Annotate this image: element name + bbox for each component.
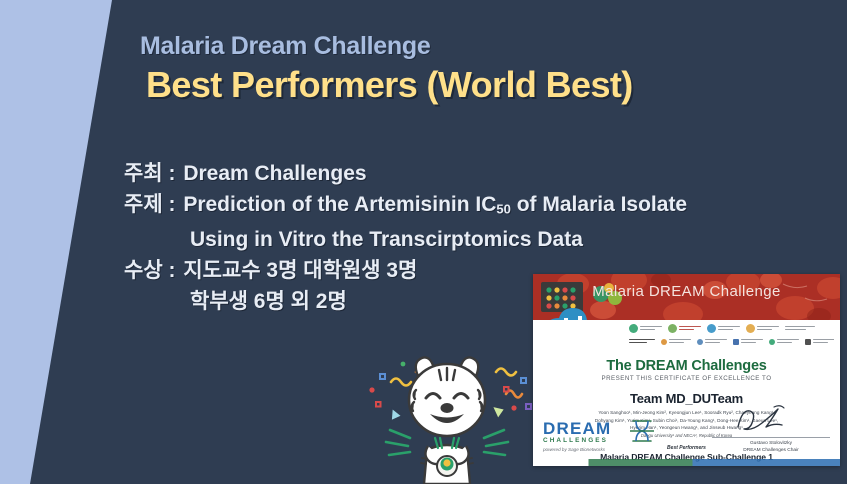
powered-by-label: powered by Sage Bionetworks	[543, 447, 611, 452]
sponsor-logo	[661, 339, 691, 345]
info-row-topic-cont: Using in Vitro the Transcirptomics Data	[124, 224, 844, 255]
white-tiger-mascot-icon	[356, 342, 538, 484]
award-line2: 학부생 6명 외 2명	[190, 290, 347, 313]
certificate-present-line: PRESENT THIS CERTIFICATE OF EXCELLENCE T…	[541, 375, 832, 382]
dream-logo-word: DREAM	[543, 420, 611, 437]
certificate-org: The DREAM Challenges	[541, 358, 832, 374]
certificate-banner: Malaria DREAM Challenge	[533, 274, 840, 320]
certificate-bottom-bar	[533, 459, 840, 466]
info-row-host: 주최 : Dream Challenges	[124, 158, 844, 189]
topic-text-pre: Prediction of the Artemisinin IC	[183, 193, 496, 216]
sponsor-logo	[629, 339, 655, 345]
topic-line2: Using in Vitro the Transcirptomics Data	[190, 228, 583, 251]
sponsor-logo	[785, 326, 815, 332]
sponsor-logo-row	[629, 322, 834, 335]
handwritten-signature-icon	[730, 403, 800, 435]
sponsor-logo	[746, 324, 779, 333]
signature-block: Gustavo Stolovitzky DREAM Challenges Cha…	[712, 403, 830, 454]
award-label: 수상 :	[124, 259, 175, 282]
dream-logo-sub: CHALLENGES	[543, 438, 611, 444]
slide-canvas: Malaria Dream Challenge Best Performers …	[0, 0, 847, 484]
topic-text-post: of Malaria Isolate	[511, 193, 687, 216]
topic-label: 주제 :	[124, 193, 175, 216]
sponsor-logo-row	[629, 335, 834, 348]
dream-hourglass-icon	[629, 418, 655, 444]
page-title: Best Performers (World Best)	[140, 65, 840, 105]
host-label: 주최 :	[124, 162, 175, 185]
dream-challenges-logo: DREAM CHALLENGES powered by Sage Bionetw…	[543, 420, 611, 452]
sponsor-logo	[733, 339, 763, 345]
sponsor-logos	[533, 320, 840, 353]
certificate-image: Malaria DREAM Challenge The DREAM Challe…	[533, 274, 840, 466]
heading-block: Malaria Dream Challenge Best Performers …	[140, 32, 840, 105]
signature-line	[712, 403, 830, 438]
host-value: Dream Challenges	[183, 162, 366, 185]
certificate-footer: DREAM CHALLENGES powered by Sage Bionetw…	[533, 414, 840, 466]
certificate-banner-title: Malaria DREAM Challenge	[533, 283, 840, 300]
signer-name: Gustavo Stolovitzky	[712, 440, 830, 447]
left-diagonal-accent	[0, 0, 135, 484]
info-row-topic: 주제 : Prediction of the Artemisinin IC50 …	[124, 189, 844, 224]
signer-title: DREAM Challenges Chair	[712, 447, 830, 454]
sponsor-logo	[769, 339, 799, 345]
sponsor-logo	[805, 339, 834, 345]
challenge-subtitle: Malaria Dream Challenge	[140, 32, 840, 61]
topic-subscript: 50	[496, 201, 510, 216]
sponsor-logo	[668, 324, 701, 333]
sponsor-logo	[707, 324, 740, 333]
sponsor-logo	[697, 339, 727, 345]
sponsor-logo	[629, 324, 662, 333]
award-line1: 지도교수 3명 대학원생 3명	[183, 259, 417, 282]
